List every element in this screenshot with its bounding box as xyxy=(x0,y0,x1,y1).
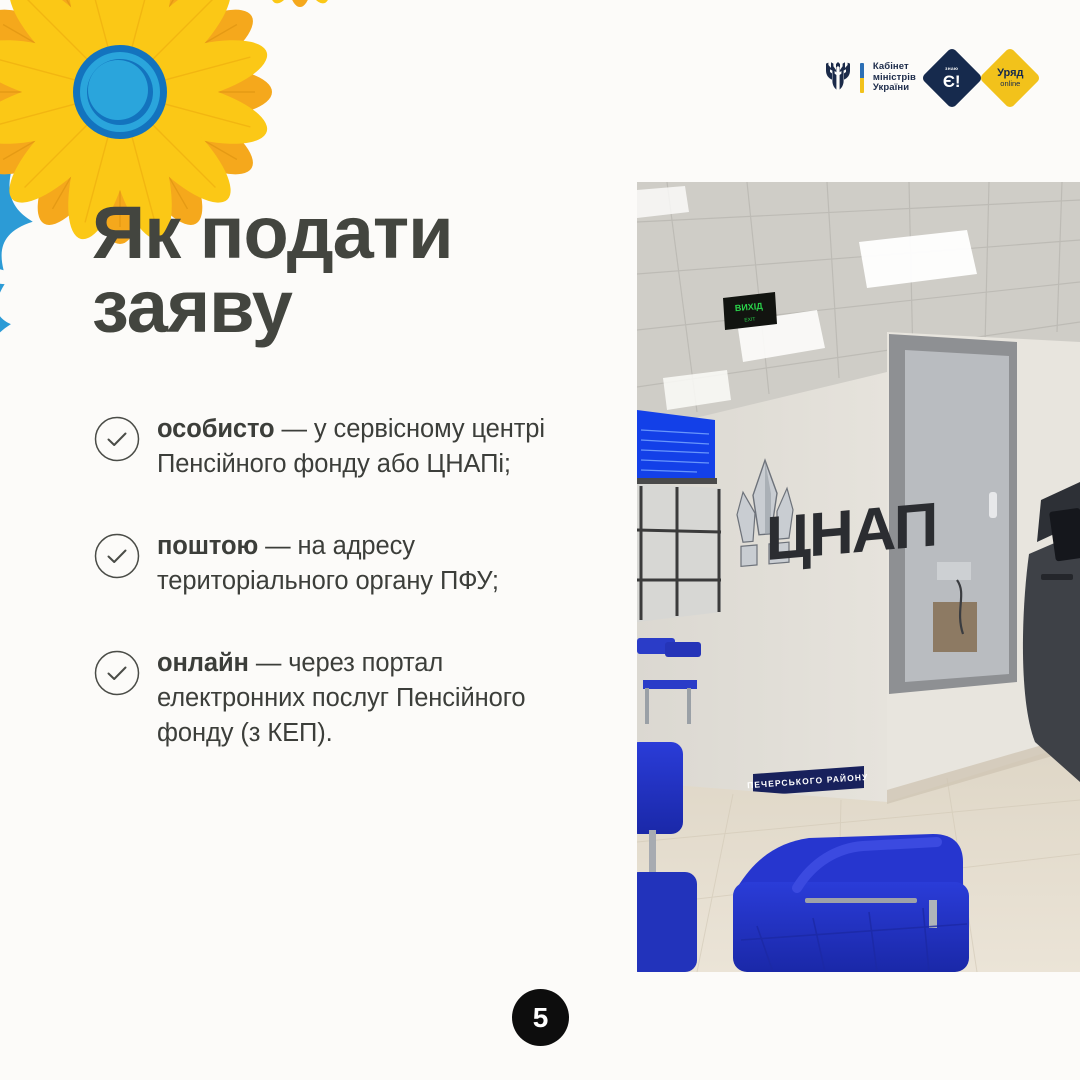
list-item-dash: — xyxy=(275,415,314,443)
page-number-badge: 5 xyxy=(512,989,569,1046)
back-office-items xyxy=(933,562,977,652)
logo-uryad-online[interactable]: Уряд online xyxy=(979,47,1041,109)
cabinet-of-ministers-label: Кабінет міністрів України xyxy=(873,62,916,94)
ye-label: Є! xyxy=(943,72,961,89)
list-item-lead: поштою xyxy=(157,532,258,560)
title-line-1: Як подати xyxy=(92,196,562,270)
list-item-lead: особисто xyxy=(157,415,275,443)
list-item-text: особисто — у сервісному центрі Пенсійног… xyxy=(157,412,564,482)
info-board xyxy=(637,410,717,484)
sunflower-small xyxy=(200,0,400,28)
check-circle-icon xyxy=(94,650,140,696)
slide-root: Кабінет міністрів України знаю Є! Уряд o… xyxy=(0,0,1080,1080)
logo-znaiu-ye[interactable]: знаю Є! xyxy=(921,47,983,109)
check-circle-icon xyxy=(94,533,140,579)
header-logos: Кабінет міністрів України знаю Є! Уряд o… xyxy=(825,56,1032,100)
page-title: Як подати заяву xyxy=(92,196,562,344)
list-item-dash: — xyxy=(249,649,288,677)
check-circle-icon xyxy=(94,416,140,462)
list-item-dash: — xyxy=(258,532,297,560)
flag-divider xyxy=(860,63,864,93)
list-item: онлайн — через портал електронних послуг… xyxy=(94,646,564,751)
online-label: online xyxy=(997,80,1023,88)
exit-sign: ВИХІД EXIT xyxy=(723,292,777,330)
glass-door xyxy=(637,484,721,622)
leaf-dark-blue xyxy=(0,10,45,182)
cmu-line-3: України xyxy=(873,83,916,94)
logo-cabinet-of-ministers: Кабінет міністрів України xyxy=(825,61,916,95)
page-number-value: 5 xyxy=(533,1002,549,1034)
tryzub-icon xyxy=(825,61,851,95)
leaf-light-blue-2 xyxy=(0,224,39,414)
uryad-label: Уряд xyxy=(997,68,1023,79)
svg-text:EXIT: EXIT xyxy=(744,317,756,324)
title-line-2: заяву xyxy=(92,270,562,344)
bullet-list: особисто — у сервісному центрі Пенсійног… xyxy=(94,412,564,798)
list-item: поштою — на адресу територіального орган… xyxy=(94,529,564,599)
leaf-light-blue xyxy=(0,90,45,303)
list-item: особисто — у сервісному центрі Пенсійног… xyxy=(94,412,564,482)
list-item-text: онлайн — через портал електронних послуг… xyxy=(157,646,564,751)
znaiu-label: знаю xyxy=(943,67,961,72)
list-item-text: поштою — на адресу територіального орган… xyxy=(157,529,564,599)
photo-cnap-interior: ВИХІД EXIT xyxy=(637,182,1080,972)
list-item-lead: онлайн xyxy=(157,649,249,677)
